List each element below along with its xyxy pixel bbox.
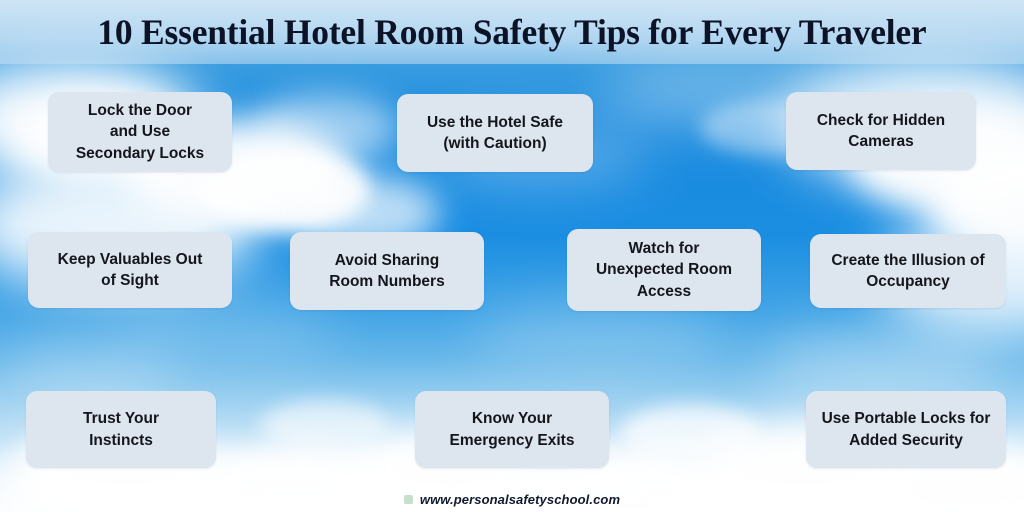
card-text-line: Cameras xyxy=(794,131,968,152)
create-illusion-of-occupancy-card[interactable]: Create the Illusion ofOccupancy xyxy=(810,234,1006,308)
card-text-line: Check for Hidden xyxy=(794,110,968,131)
use-hotel-safe-card[interactable]: Use the Hotel Safe(with Caution) xyxy=(397,94,593,172)
card-text: Avoid SharingRoom Numbers xyxy=(298,250,476,292)
card-text-line: Use the Hotel Safe xyxy=(405,112,585,133)
avoid-sharing-room-numbers-card[interactable]: Avoid SharingRoom Numbers xyxy=(290,232,484,310)
card-text: Keep Valuables Outof Sight xyxy=(36,249,224,291)
small-square-mark-icon xyxy=(404,495,413,504)
card-text-line: Emergency Exits xyxy=(423,430,601,451)
card-text: Create the Illusion ofOccupancy xyxy=(818,250,998,292)
lock-the-door-card[interactable]: Lock the Doorand UseSecondary Locks xyxy=(48,92,232,172)
card-text: Check for HiddenCameras xyxy=(794,110,968,152)
footer: www.personalsafetyschool.com xyxy=(0,492,1024,507)
card-text: Watch forUnexpected RoomAccess xyxy=(575,238,753,301)
card-text-line: Keep Valuables Out xyxy=(36,249,224,270)
card-text-line: Know Your xyxy=(423,408,601,429)
use-portable-locks-card[interactable]: Use Portable Locks forAdded Security xyxy=(806,391,1006,468)
card-text-line: of Sight xyxy=(36,270,224,291)
card-text-line: Access xyxy=(575,281,753,302)
keep-valuables-out-of-sight-card[interactable]: Keep Valuables Outof Sight xyxy=(28,232,232,308)
card-text-line: Room Numbers xyxy=(298,271,476,292)
know-your-emergency-exits-card[interactable]: Know YourEmergency Exits xyxy=(415,391,609,468)
website-url[interactable]: www.personalsafetyschool.com xyxy=(420,492,620,507)
card-text-line: Trust Your xyxy=(34,408,208,429)
infographic-root: 10 Essential Hotel Room Safety Tips for … xyxy=(0,0,1024,512)
card-text: Trust YourInstincts xyxy=(34,408,208,450)
card-text-line: Lock the Door xyxy=(56,100,224,121)
card-text-line: Occupancy xyxy=(818,271,998,292)
card-text: Know YourEmergency Exits xyxy=(423,408,601,450)
check-hidden-cameras-card[interactable]: Check for HiddenCameras xyxy=(786,92,976,170)
card-text-line: Secondary Locks xyxy=(56,143,224,164)
page-title: 10 Essential Hotel Room Safety Tips for … xyxy=(97,14,926,50)
watch-unexpected-room-access-card[interactable]: Watch forUnexpected RoomAccess xyxy=(567,229,761,311)
card-text: Use Portable Locks forAdded Security xyxy=(814,408,998,450)
card-text-line: Avoid Sharing xyxy=(298,250,476,271)
card-text-line: and Use xyxy=(56,121,224,142)
card-text-line: Use Portable Locks for xyxy=(814,408,998,429)
card-text-line: Watch for xyxy=(575,238,753,259)
card-text-line: Create the Illusion of xyxy=(818,250,998,271)
card-text-line: Added Security xyxy=(814,430,998,451)
card-text-line: Unexpected Room xyxy=(575,259,753,280)
card-text-line: Instincts xyxy=(34,430,208,451)
card-text: Lock the Doorand UseSecondary Locks xyxy=(56,100,224,163)
trust-your-instincts-card[interactable]: Trust YourInstincts xyxy=(26,391,216,468)
card-text: Use the Hotel Safe(with Caution) xyxy=(405,112,585,154)
card-text-line: (with Caution) xyxy=(405,133,585,154)
header-band: 10 Essential Hotel Room Safety Tips for … xyxy=(0,0,1024,64)
